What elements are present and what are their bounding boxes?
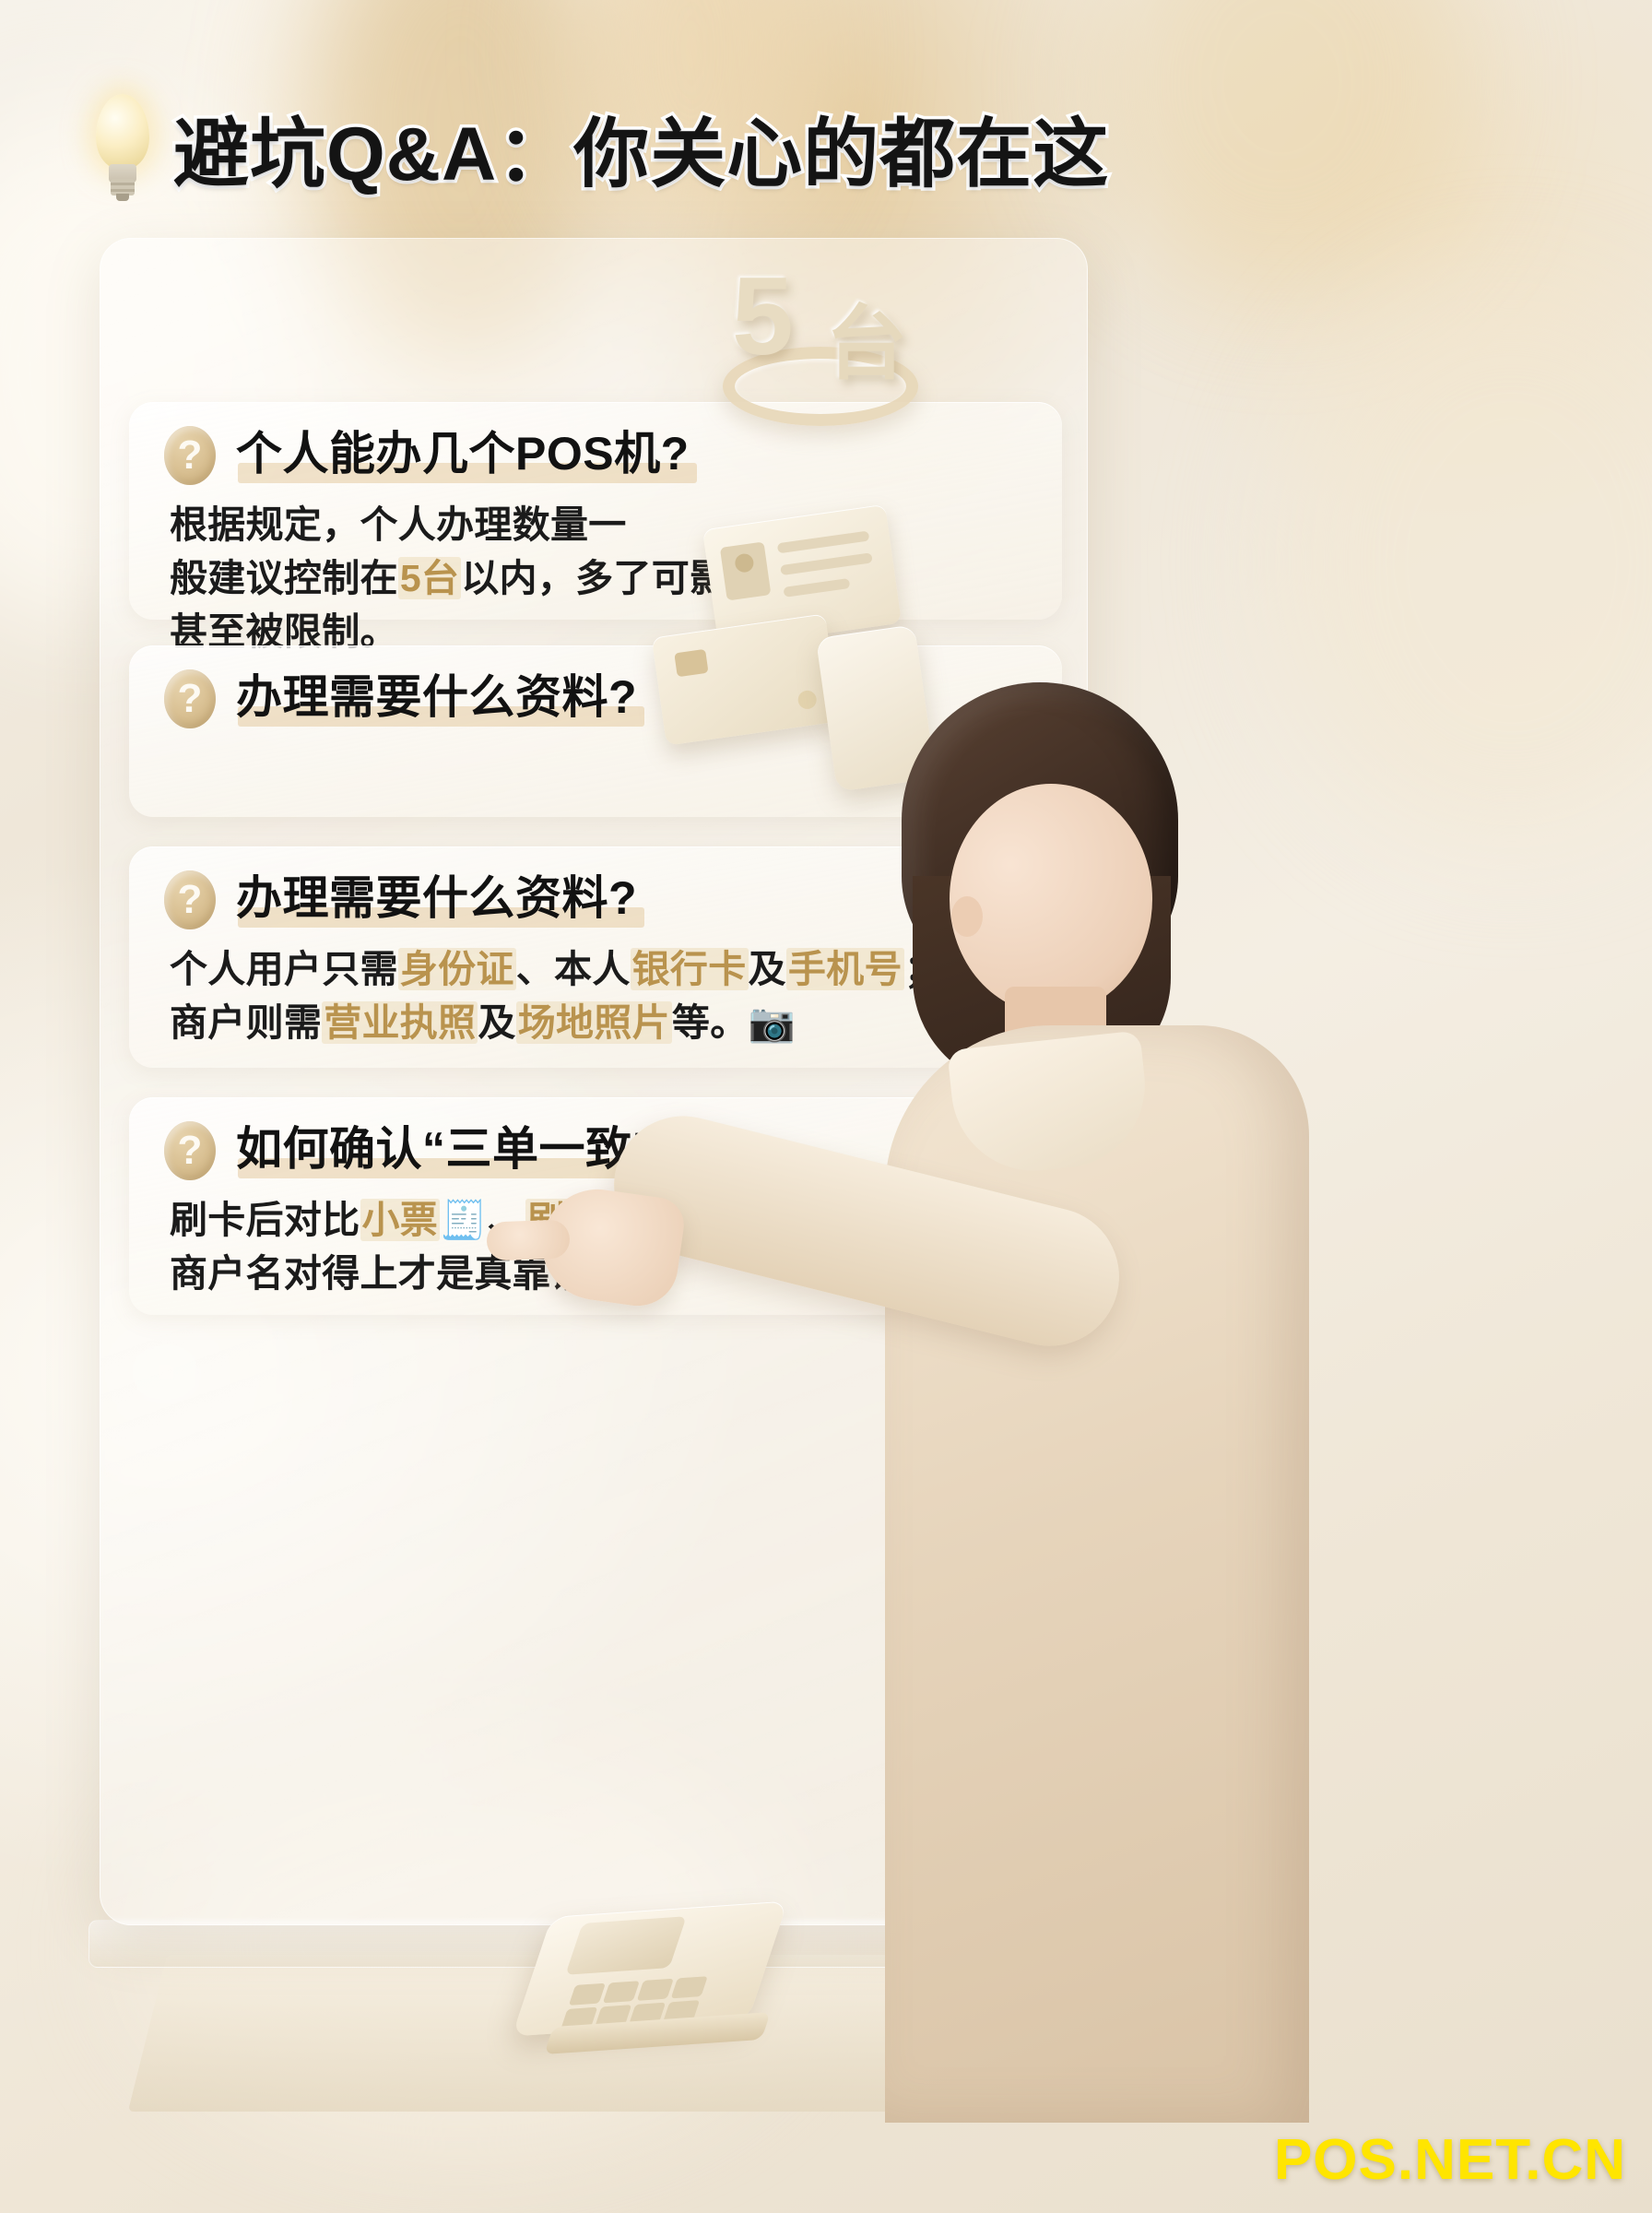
question-text: 个人能办几个POS机? <box>232 428 697 483</box>
answer-run: 刷卡后对比 <box>170 1199 360 1241</box>
answer-run: 、本人 <box>516 948 631 990</box>
answer-run: 商户则需 <box>170 1001 322 1044</box>
highlight-term: 5台 <box>398 557 461 599</box>
woman-3d-character <box>885 682 1652 2121</box>
answer-run: 及 <box>749 948 786 990</box>
question-text: 办理需要什么资料? <box>232 671 644 727</box>
question-mark-icon: ? <box>164 1121 216 1180</box>
five-number: 5 <box>732 253 794 380</box>
highlight-term: 银行卡 <box>631 948 749 990</box>
page-title: 避坑Q&A：你关心的都在这 <box>173 92 1109 202</box>
pos-terminal-icon <box>535 1872 811 2075</box>
highlight-term: 身份证 <box>398 948 516 990</box>
highlight-term: 小票 <box>360 1199 441 1241</box>
five-units-decor: 5 台 <box>710 247 940 459</box>
question-mark-icon: ? <box>164 426 216 485</box>
highlight-term: 场地照片 <box>516 1001 672 1044</box>
answer-run: 个人用户只需 <box>170 948 398 990</box>
question-mark-icon: ? <box>164 870 216 929</box>
bank-card-icon <box>652 613 841 745</box>
watermark: POS.NET.CN <box>1274 2127 1626 2193</box>
five-unit: 台 <box>826 278 907 396</box>
answer-run: 等。📷 <box>672 1001 796 1044</box>
question-mark-icon: ? <box>164 669 216 728</box>
highlight-term: 营业执照 <box>322 1001 478 1044</box>
question-text: 办理需要什么资料? <box>232 872 644 928</box>
page-header: 避坑Q&A：你关心的都在这 <box>88 92 1109 202</box>
background-glow <box>1088 0 1475 295</box>
lightbulb-icon <box>88 94 157 201</box>
poster-root: 避坑Q&A：你关心的都在这 5 台 ? 个人能办几个POS机? 根据规定，个人办… <box>0 0 1652 2213</box>
answer-run: 及 <box>478 1001 515 1044</box>
answer-run: 般建议控制在 <box>170 557 398 599</box>
answer-run: 根据规定，个人办理数量一 <box>170 503 627 546</box>
